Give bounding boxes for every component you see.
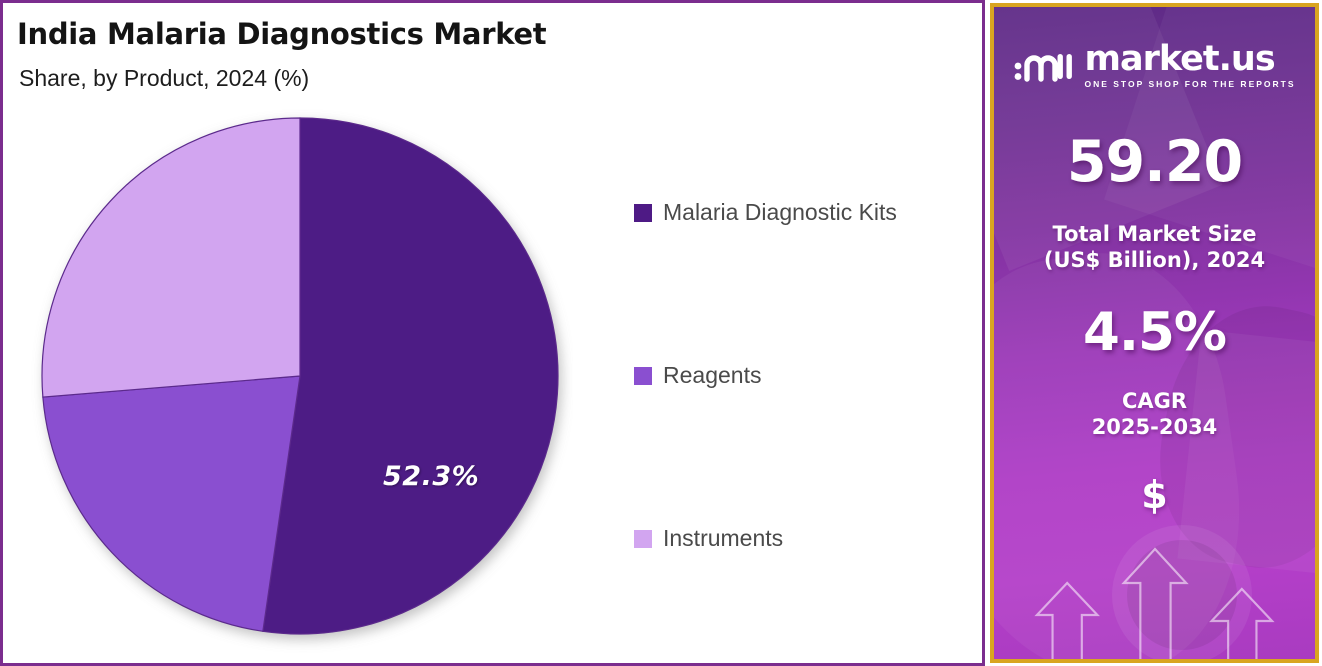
market-size-caption-line1: Total Market Size [994,222,1315,248]
pie-chart: 52.3% [28,103,573,653]
cagr-value: 4.5% [994,302,1315,363]
market-us-logo-icon [1013,46,1075,86]
growth-arrows-icon [994,539,1315,659]
pie-chart-svg [28,103,573,653]
pie-slice-data-label: 52.3% [383,461,479,492]
market-us-logo-text: market.us ONE STOP SHOP FOR THE REPORTS [1084,43,1295,89]
market-size-value: 59.20 [994,129,1315,195]
pie-slice-malaria-diagnostic-kits [263,118,558,634]
legend-label: Instruments [663,525,783,552]
stat-panel: market.us ONE STOP SHOP FOR THE REPORTS … [990,3,1319,663]
legend-swatch-icon [634,367,652,385]
legend-item-reagents[interactable]: Reagents [634,362,761,389]
chart-subtitle: Share, by Product, 2024 (%) [19,65,309,92]
pie-slice-instruments [42,118,300,397]
legend-swatch-icon [634,530,652,548]
legend-item-instruments[interactable]: Instruments [634,525,783,552]
chart-panel: India Malaria Diagnostics Market Share, … [0,0,985,666]
infographic-root: India Malaria Diagnostics Market Share, … [0,0,1322,666]
market-us-logo[interactable]: market.us ONE STOP SHOP FOR THE REPORTS [994,43,1315,89]
pie-slices [42,118,558,634]
legend-label: Malaria Diagnostic Kits [663,199,897,226]
market-size-caption-line2: (US$ Billion), 2024 [994,248,1315,274]
dollar-sign-icon: $ [994,473,1315,517]
logo-wordmark: market.us [1084,43,1295,76]
logo-tagline: ONE STOP SHOP FOR THE REPORTS [1084,79,1295,89]
background-texture [1177,330,1319,574]
legend-swatch-icon [634,204,652,222]
chart-title: India Malaria Diagnostics Market [17,17,546,51]
pie-slice-reagents [43,376,300,631]
cagr-caption: CAGR 2025-2034 [994,389,1315,440]
cagr-caption-line1: CAGR [994,389,1315,415]
cagr-caption-line2: 2025-2034 [994,415,1315,441]
legend-item-malaria-diagnostic-kits[interactable]: Malaria Diagnostic Kits [634,199,897,226]
market-size-caption: Total Market Size (US$ Billion), 2024 [994,222,1315,273]
legend-label: Reagents [663,362,761,389]
